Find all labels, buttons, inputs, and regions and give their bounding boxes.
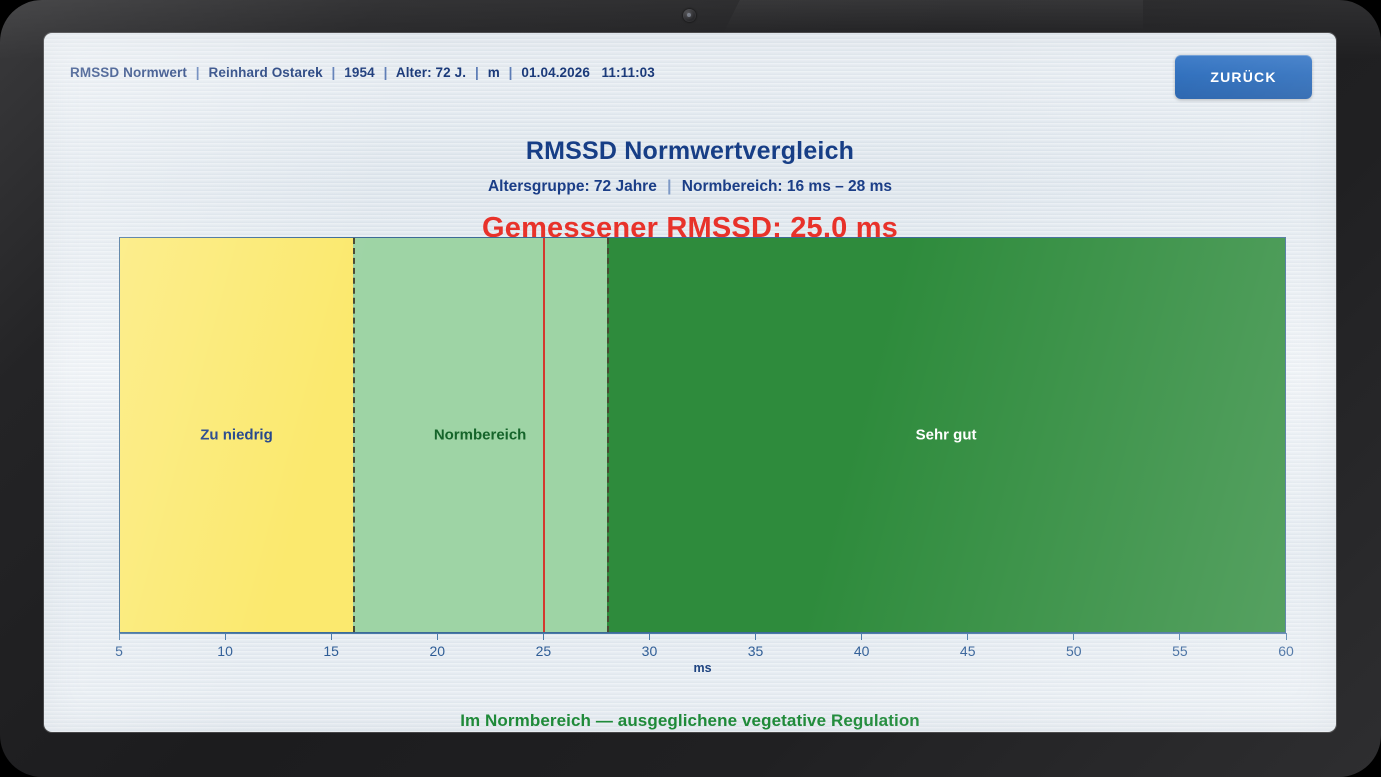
axis-title: ms [119, 661, 1286, 675]
axis-tick-label: 10 [217, 643, 233, 659]
tablet-screen: RMSSD Normwert | Reinhard Ostarek | 1954… [44, 33, 1336, 732]
axis-tick-label: 5 [115, 643, 123, 659]
chart-plot-area: Zu niedrigNormbereichSehr gut [119, 237, 1286, 633]
axis-tick-label: 50 [1066, 643, 1082, 659]
measured-value-marker [543, 238, 545, 632]
subtitle-normal-range: Normbereich: 16 ms – 28 ms [682, 178, 892, 195]
meta-sex: m [488, 65, 500, 80]
chart-x-axis: ms 51015202530354045505560 [119, 633, 1286, 679]
chart-band-2: Sehr gut [607, 238, 1285, 632]
axis-tick [1073, 633, 1074, 640]
front-camera-icon [683, 9, 696, 22]
axis-spine [119, 633, 1286, 634]
back-button[interactable]: ZURÜCK [1175, 55, 1312, 99]
subtitle-age-group: Altersgruppe: 72 Jahre [488, 178, 657, 195]
chart-band-label: Sehr gut [607, 427, 1285, 444]
axis-tick-label: 20 [429, 643, 445, 659]
meta-time: 11:11:03 [602, 65, 655, 80]
meta-separator: | [379, 65, 393, 80]
page-title: RMSSD Normwertvergleich [44, 137, 1336, 166]
bezel-seam [723, 0, 1143, 34]
axis-tick-label: 30 [642, 643, 658, 659]
chart-boundary-line [607, 238, 609, 632]
tablet-frame: RMSSD Normwert | Reinhard Ostarek | 1954… [0, 0, 1381, 777]
axis-tick-label: 35 [748, 643, 764, 659]
chart-band-label: Zu niedrig [120, 427, 353, 444]
meta-separator: | [470, 65, 484, 80]
axis-tick [967, 633, 968, 640]
meta-age: Alter: 72 J. [396, 65, 466, 80]
meta-separator: | [191, 65, 205, 80]
axis-tick [331, 633, 332, 640]
axis-tick [437, 633, 438, 640]
axis-tick [543, 633, 544, 640]
rmssd-chart: Zu niedrigNormbereichSehr gut ms 5101520… [119, 237, 1286, 633]
axis-tick [861, 633, 862, 640]
axis-tick-label: 55 [1172, 643, 1188, 659]
axis-tick [755, 633, 756, 640]
axis-tick-label: 15 [323, 643, 339, 659]
chart-band-0: Zu niedrig [120, 238, 353, 632]
axis-tick-label: 40 [854, 643, 870, 659]
header-bar: RMSSD Normwert | Reinhard Ostarek | 1954… [44, 33, 1336, 121]
axis-tick [225, 633, 226, 640]
title-block: RMSSD Normwertvergleich Altersgruppe: 72… [44, 137, 1336, 245]
patient-meta-line: RMSSD Normwert | Reinhard Ostarek | 1954… [70, 65, 655, 80]
axis-tick [119, 633, 120, 640]
subtitle-separator: | [661, 178, 677, 195]
axis-tick-label: 60 [1278, 643, 1294, 659]
meta-separator: | [504, 65, 518, 80]
subtitle-line: Altersgruppe: 72 Jahre | Normbereich: 16… [44, 178, 1336, 196]
axis-tick [1179, 633, 1180, 640]
meta-report: RMSSD Normwert [70, 65, 187, 80]
verdict-text: Im Normbereich — ausgeglichene vegetativ… [44, 711, 1336, 731]
axis-tick-label: 25 [536, 643, 552, 659]
chart-band-label: Normbereich [353, 427, 607, 444]
meta-date: 01.04.2026 [521, 65, 590, 80]
meta-patient-name: Reinhard Ostarek [209, 65, 323, 80]
meta-birth-year: 1954 [344, 65, 374, 80]
meta-separator: | [327, 65, 341, 80]
chart-boundary-line [353, 238, 355, 632]
chart-band-1: Normbereich [353, 238, 607, 632]
axis-tick [1286, 633, 1287, 640]
axis-tick-label: 45 [960, 643, 976, 659]
axis-tick [649, 633, 650, 640]
